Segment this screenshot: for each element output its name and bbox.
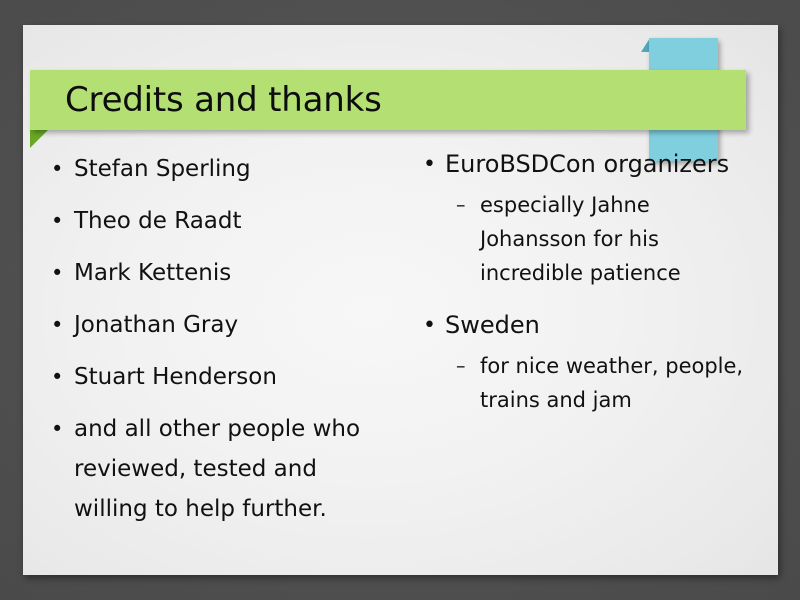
bullet-marker-icon: • xyxy=(51,195,74,247)
bullet-marker-icon: • xyxy=(51,299,74,351)
list-item: • and all other people who reviewed, tes… xyxy=(51,403,413,529)
list-item: • Theo de Raadt xyxy=(51,195,413,247)
list-item: • Stuart Henderson xyxy=(51,351,413,403)
slide-content: • Stefan Sperling • Theo de Raadt • Mark… xyxy=(23,143,778,573)
list-item: • Mark Kettenis xyxy=(51,247,413,299)
sub-list-item: – for nice weather, people, trains and j… xyxy=(413,349,778,417)
bullet-marker-icon: • xyxy=(51,143,74,195)
sub-list-item-label: especially Jahne Johansson for his incre… xyxy=(480,188,778,290)
bullet-group: • EuroBSDCon organizers – especially Jah… xyxy=(413,143,778,290)
presentation-slide: Credits and thanks • Stefan Sperling • T… xyxy=(23,25,778,575)
right-bullet-column: • EuroBSDCon organizers – especially Jah… xyxy=(413,143,778,573)
title-banner: Credits and thanks xyxy=(30,70,746,130)
list-item-label: Theo de Raadt xyxy=(74,195,413,247)
bullet-marker-icon: • xyxy=(423,143,445,186)
list-item-label: Sweden xyxy=(445,304,778,347)
list-item-label: Stuart Henderson xyxy=(74,351,413,403)
list-item: • Sweden xyxy=(413,304,778,347)
sub-list-item-label: for nice weather, people, trains and jam xyxy=(480,349,778,417)
list-item: • EuroBSDCon organizers xyxy=(413,143,778,186)
bullet-group: • Sweden – for nice weather, people, tra… xyxy=(413,304,778,417)
sub-list-item: – especially Jahne Johansson for his inc… xyxy=(413,188,778,290)
bullet-marker-icon: • xyxy=(51,247,74,299)
bullet-marker-icon: • xyxy=(51,403,74,455)
left-bullet-column: • Stefan Sperling • Theo de Raadt • Mark… xyxy=(23,143,413,573)
list-item-label: Mark Kettenis xyxy=(74,247,413,299)
list-item-label: Stefan Sperling xyxy=(74,143,413,195)
bullet-marker-icon: • xyxy=(51,351,74,403)
list-item-label: EuroBSDCon organizers xyxy=(445,143,778,186)
list-item: • Stefan Sperling xyxy=(51,143,413,195)
dash-marker-icon: – xyxy=(456,188,480,222)
dash-marker-icon: – xyxy=(456,349,480,383)
list-item-label: Jonathan Gray xyxy=(74,299,413,351)
list-item-label: and all other people who reviewed, teste… xyxy=(74,403,413,529)
page-title: Credits and thanks xyxy=(65,83,382,117)
bullet-marker-icon: • xyxy=(423,304,445,347)
list-item: • Jonathan Gray xyxy=(51,299,413,351)
